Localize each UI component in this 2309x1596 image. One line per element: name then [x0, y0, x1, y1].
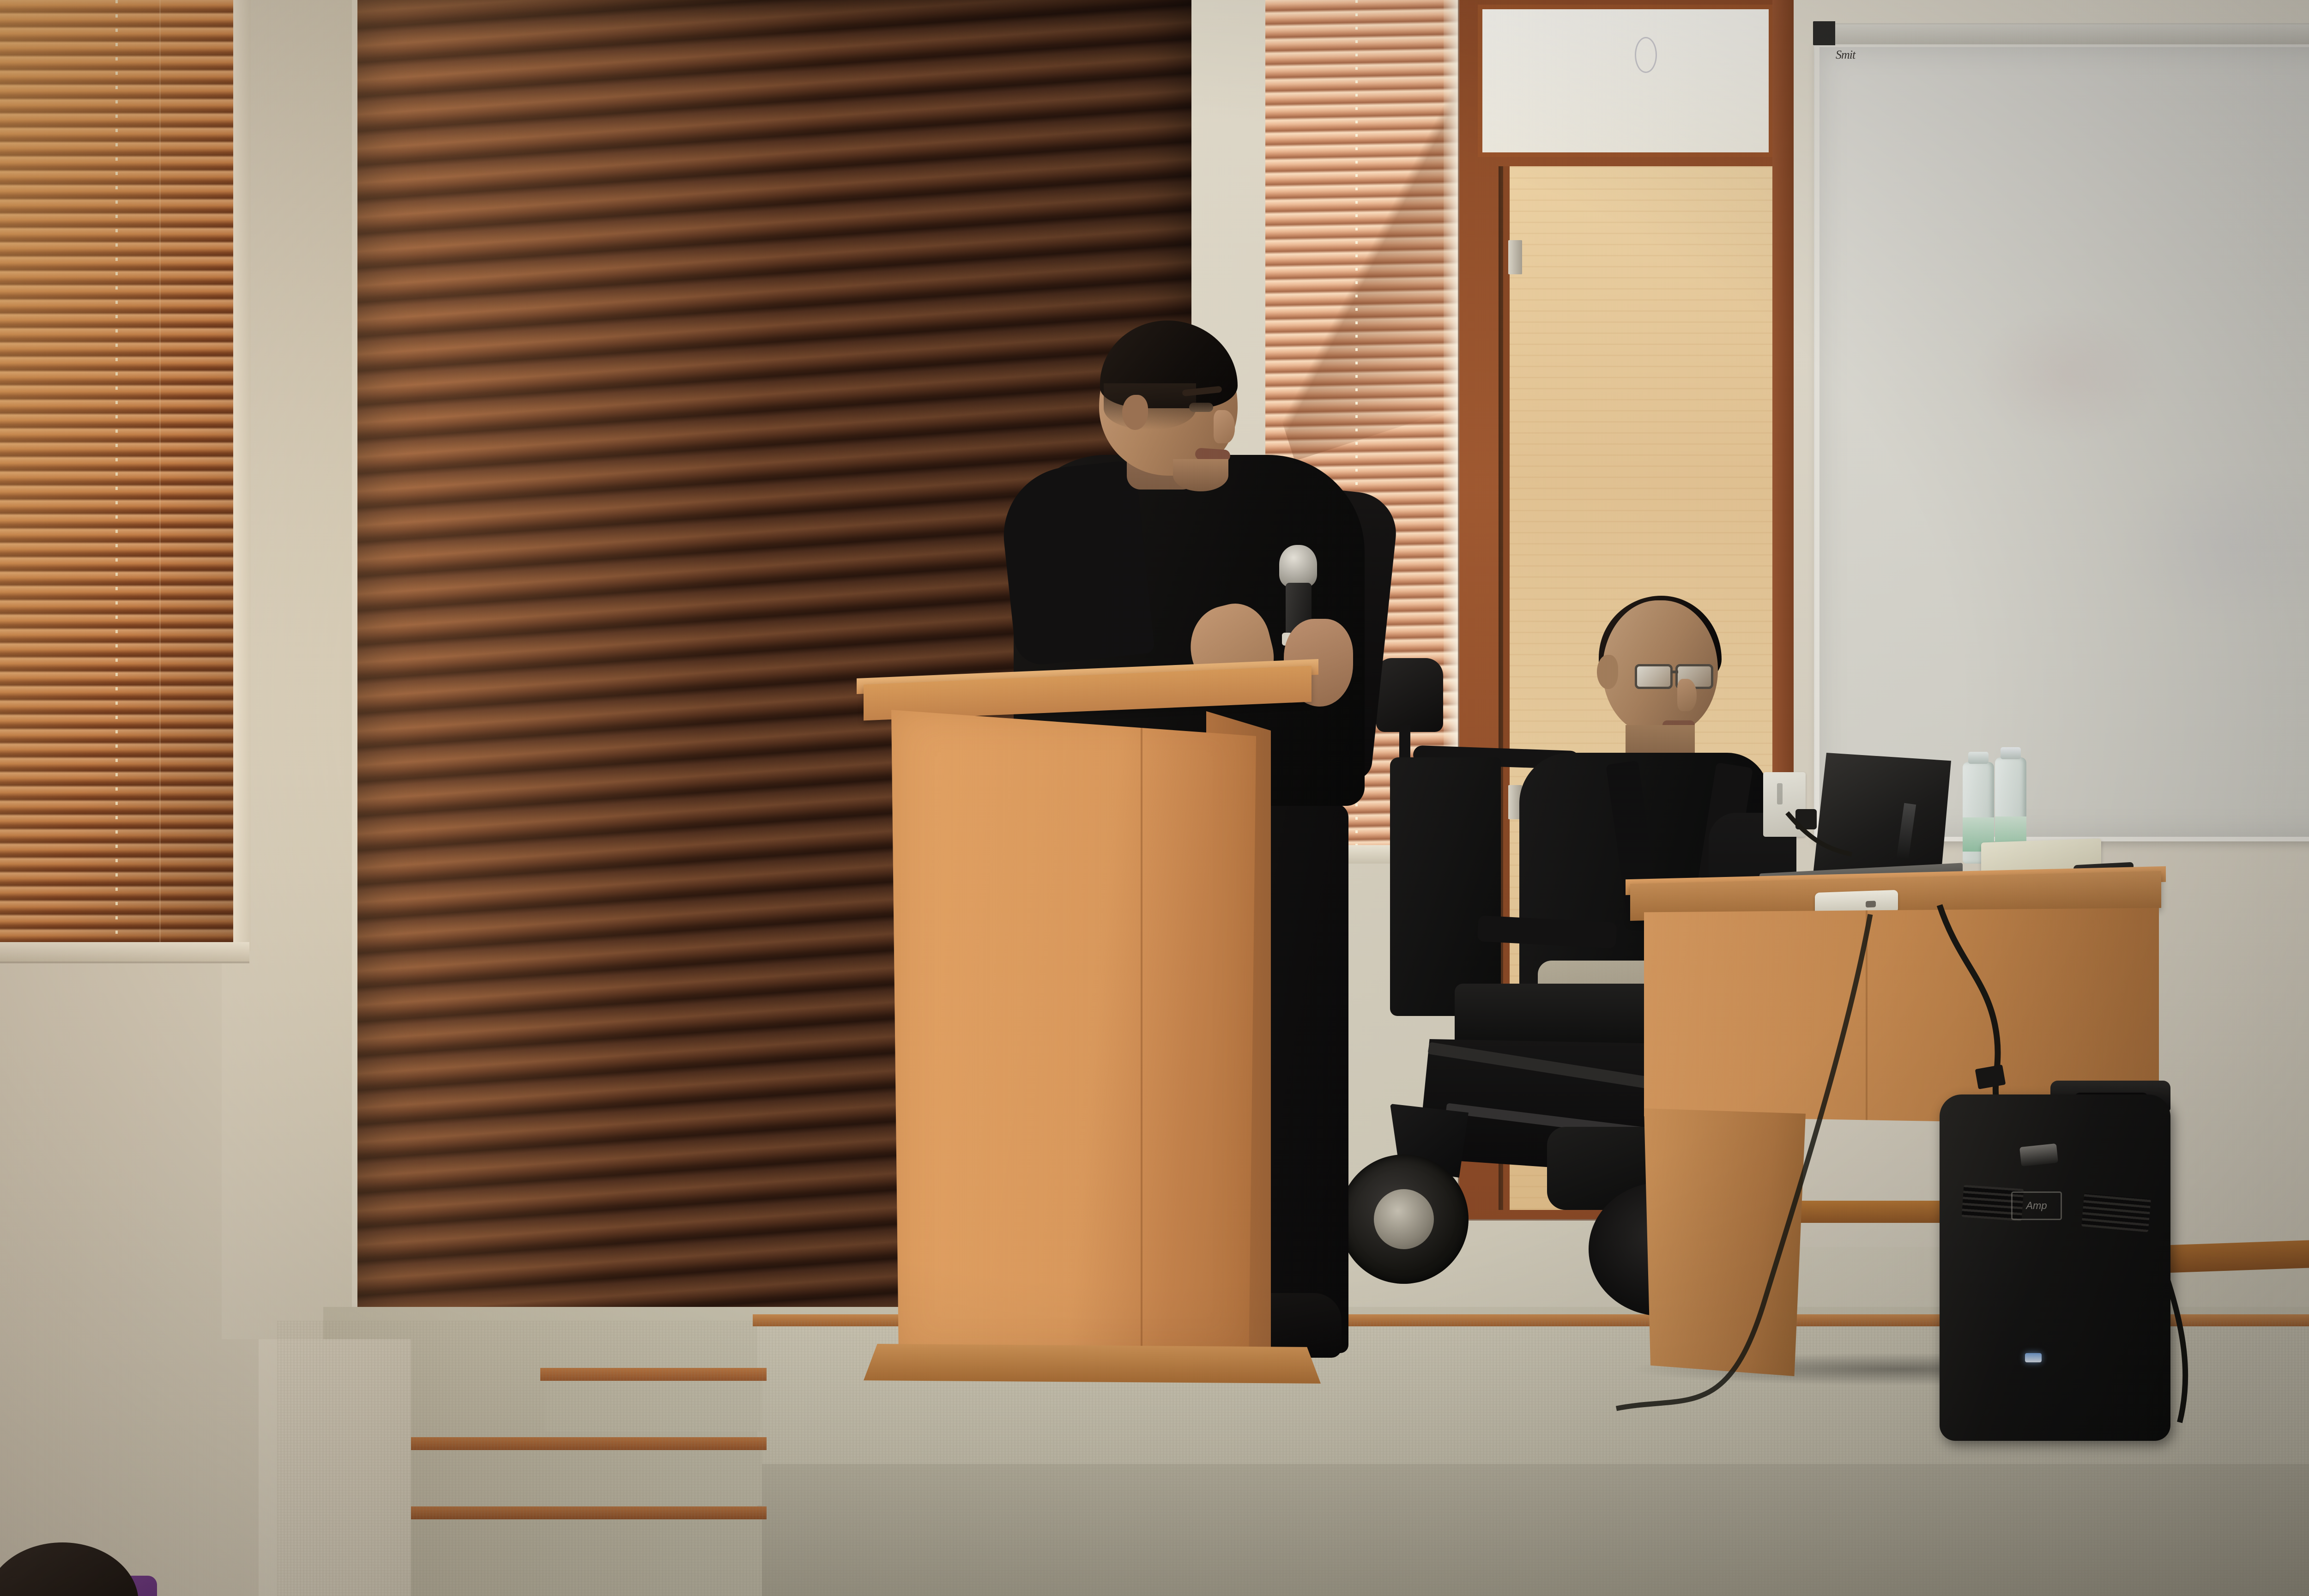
- laptop-screen-glint: [1897, 803, 1916, 859]
- presenter-chin: [1173, 459, 1228, 491]
- whiteboard-marker-tray: [1815, 23, 2309, 44]
- eyeglasses-left-lens-icon: [1635, 664, 1673, 689]
- desk-leg-panel: [1644, 1108, 1806, 1376]
- window-frame-left: [233, 0, 251, 951]
- bottle-cap-icon: [2001, 747, 2021, 759]
- presenter-eye: [1189, 403, 1213, 412]
- pa-speaker-tweeter: [2019, 1143, 2058, 1167]
- blind-cord-left-secondary: [159, 0, 161, 951]
- blind-cord-left: [115, 0, 118, 951]
- power-plug-icon: [1795, 809, 1817, 829]
- transom-mark: [1635, 37, 1657, 73]
- presenter-nose: [1214, 410, 1235, 443]
- door-hinge-upper-icon: [1508, 240, 1522, 274]
- wheelchair-backrest: [1390, 757, 1501, 1016]
- seated-person-ear: [1597, 655, 1618, 689]
- wheelchair-headrest: [1376, 658, 1443, 732]
- eyeglasses-bridge-icon: [1671, 671, 1678, 673]
- door-transom-window: [1478, 5, 1773, 157]
- whiteboard[interactable]: [1815, 42, 2309, 841]
- presenter-left-shoulder: [997, 459, 1155, 667]
- pa-speaker-vent-right: [2081, 1193, 2151, 1232]
- outlet-slot-icon: [1777, 783, 1783, 804]
- lectern-panel-seam: [1141, 707, 1142, 1362]
- whiteboard-smudge: [1972, 306, 2166, 444]
- caster-hub: [1374, 1189, 1434, 1249]
- pa-power-led-icon: [2025, 1353, 2042, 1362]
- remote-button-icon: [1866, 901, 1876, 908]
- blind-shadow-diagonal: [1265, 1, 1459, 461]
- window-light-edge: [1444, 0, 1459, 864]
- panel-left-edge: [352, 0, 357, 1342]
- window-sill-left: [0, 942, 249, 963]
- microphone-head-icon[interactable]: [1279, 545, 1317, 587]
- whiteboard-tray-end-cap: [1813, 21, 1835, 45]
- seated-person-nose: [1677, 679, 1697, 711]
- whiteboard-brand-logo: Smit: [1836, 48, 1914, 64]
- whiteboard-smudge-secondary: [2115, 463, 2309, 629]
- lectern-front-panel: [891, 707, 1256, 1362]
- window-left: [0, 0, 240, 951]
- blind-backlight-glow: [0, 0, 240, 951]
- presenter-hair-fade: [1104, 383, 1196, 429]
- photo-scene: Smit: [0, 0, 2309, 1596]
- bottle-cap-icon: [1968, 752, 1989, 764]
- pa-speaker-badge: Amp: [2011, 1191, 2062, 1220]
- presenter-ear: [1122, 395, 1148, 430]
- lectern-base-plinth: [864, 1344, 1321, 1384]
- desk-panel-seam: [1866, 908, 1868, 1125]
